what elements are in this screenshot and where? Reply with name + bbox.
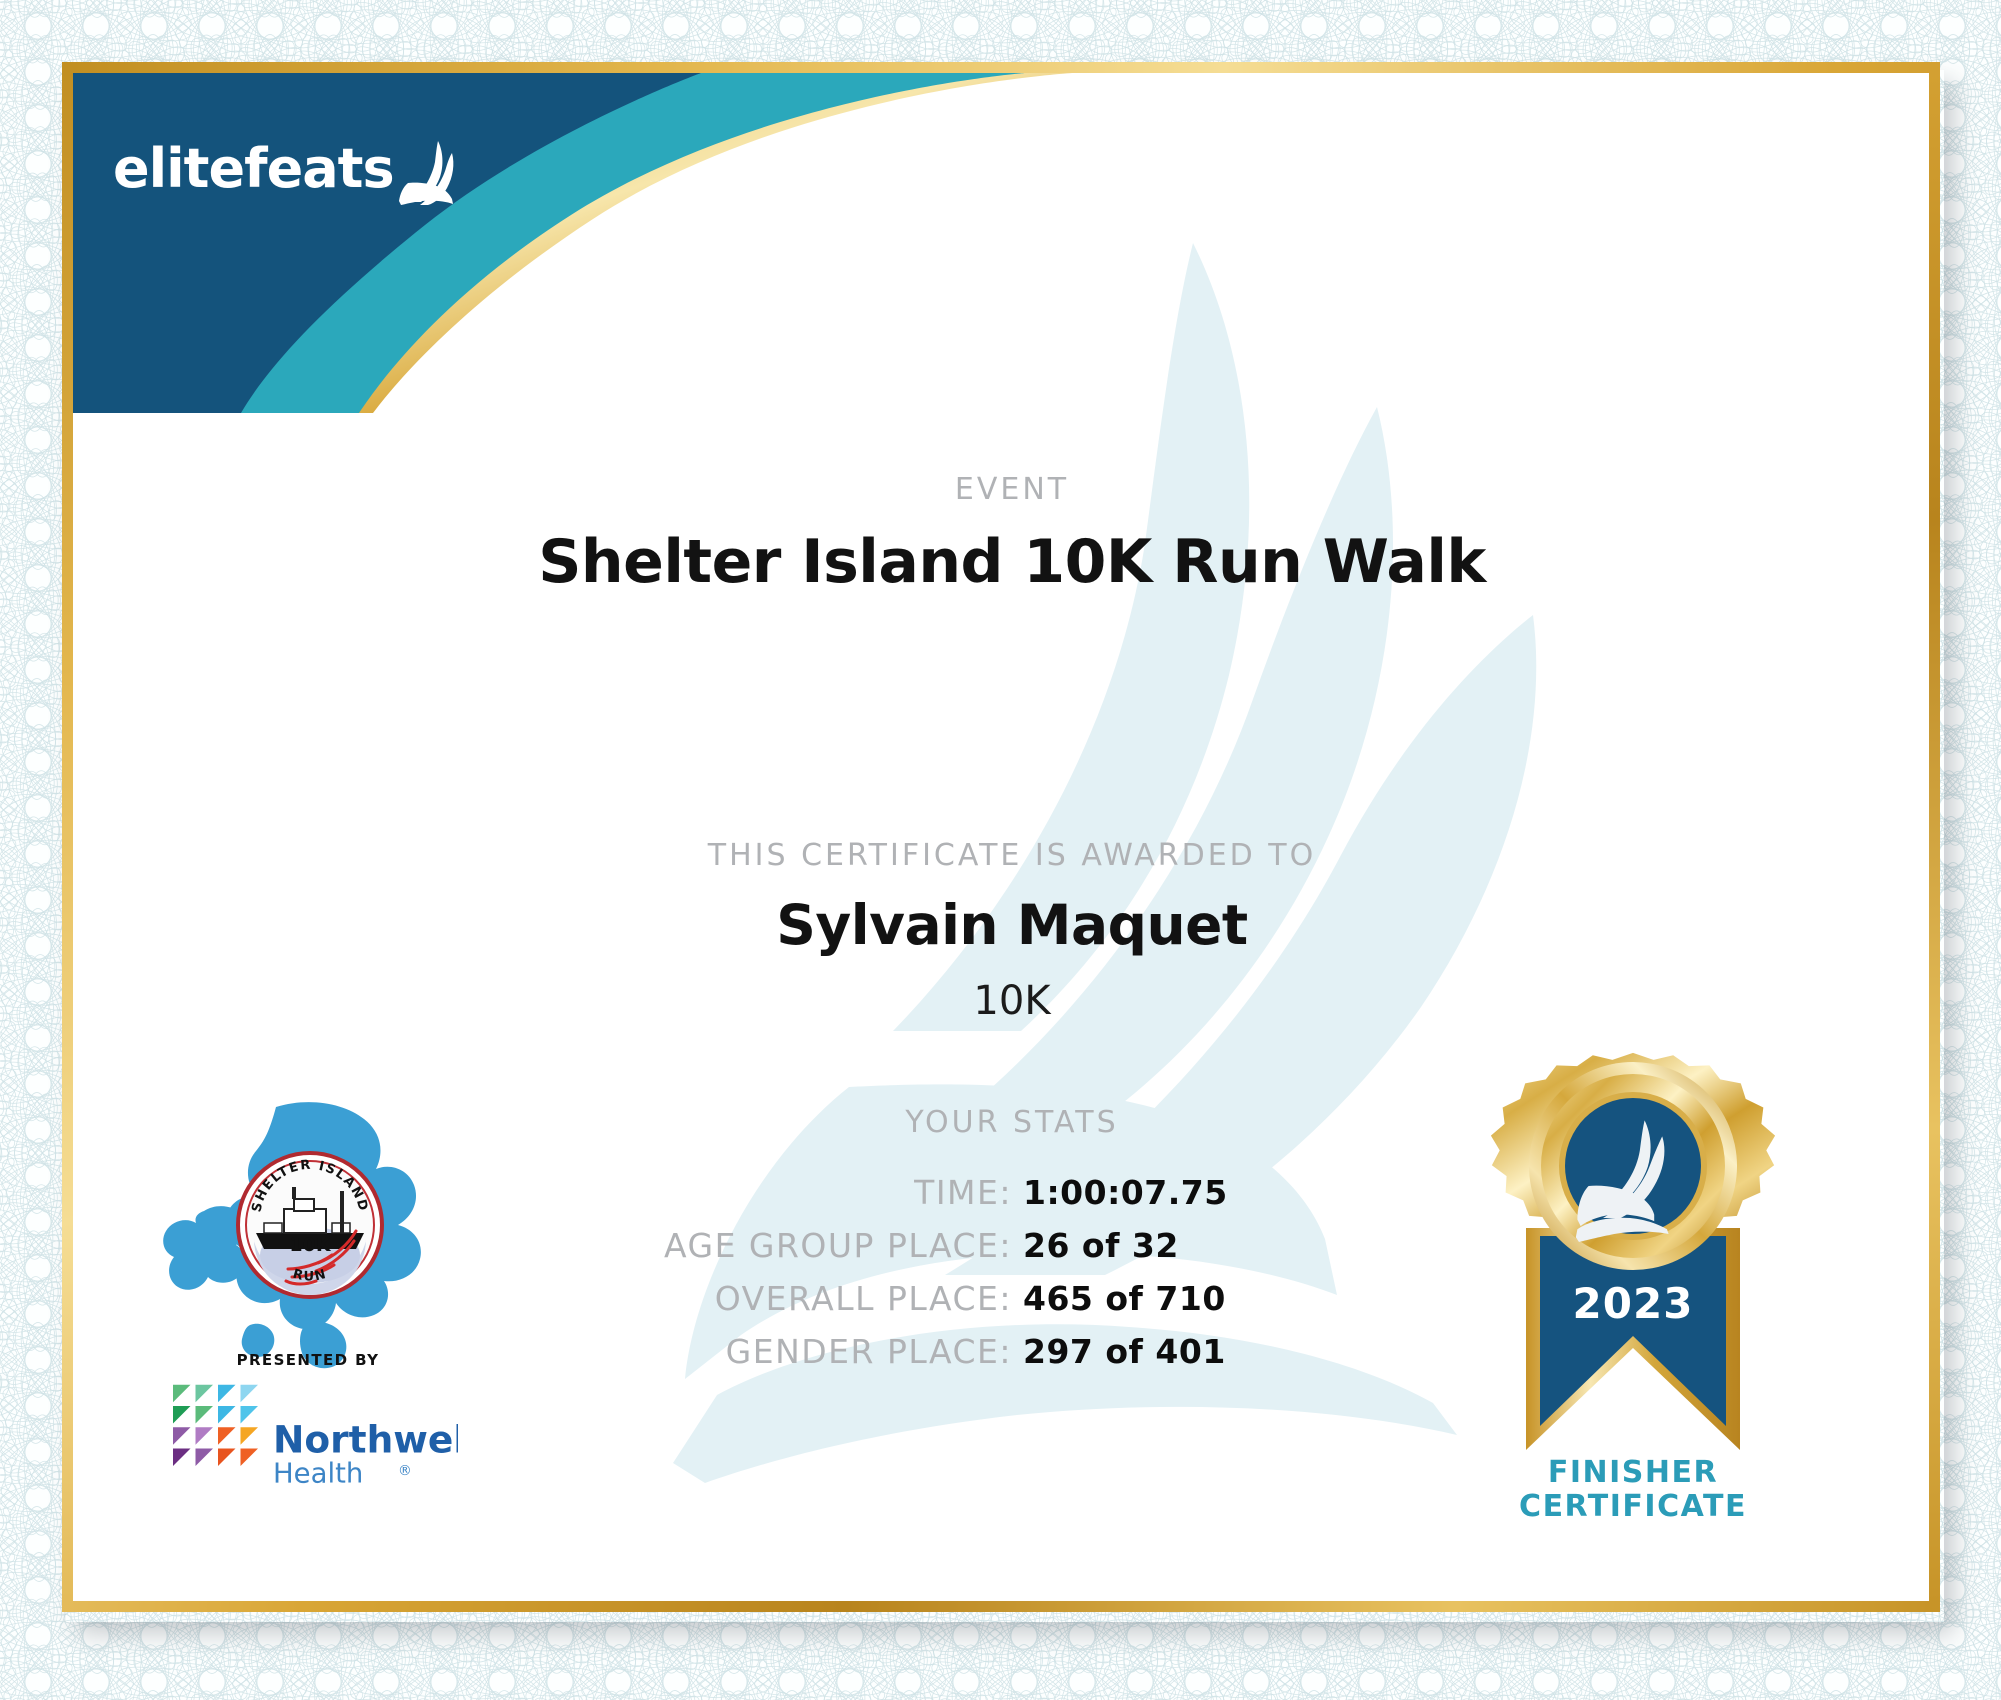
brand-wordmark: elitefeats bbox=[113, 142, 394, 196]
certificate-page: elitefeats EVENT Shelter Island 10K Run … bbox=[0, 0, 2001, 1700]
stat-key: TIME: bbox=[914, 1173, 1012, 1212]
finisher-caption-line2: CERTIFICATE bbox=[1423, 1490, 1843, 1524]
certificate-frame: elitefeats EVENT Shelter Island 10K Run … bbox=[62, 62, 1940, 1612]
badge-center-text: 10K bbox=[289, 1234, 331, 1256]
stat-key: GENDER PLACE: bbox=[726, 1332, 1012, 1371]
shelter-island-map-icon: 10K SHELTER ISLAND RUN bbox=[158, 1093, 458, 1383]
stat-key: OVERALL PLACE: bbox=[715, 1279, 1012, 1318]
stat-key: AGE GROUP PLACE: bbox=[664, 1226, 1012, 1265]
medal-year: 2023 bbox=[1573, 1279, 1694, 1328]
header-decoration bbox=[73, 73, 1073, 413]
finisher-caption-line1: FINISHER bbox=[1423, 1456, 1843, 1490]
awarded-label: THIS CERTIFICATE IS AWARDED TO bbox=[73, 838, 1929, 873]
finisher-caption: FINISHER CERTIFICATE bbox=[1423, 1456, 1843, 1524]
finisher-medal-icon: 2023 bbox=[1468, 998, 1798, 1488]
sponsor-sub: Health bbox=[273, 1457, 363, 1486]
event-label: EVENT bbox=[73, 472, 1929, 507]
recipient-name: Sylvain Maquet bbox=[73, 893, 1929, 957]
elitefeats-logo: elitefeats bbox=[113, 133, 460, 205]
stat-value: 26 of 32 bbox=[1023, 1226, 1179, 1265]
northwell-health-logo: Northwell Health ® bbox=[158, 1376, 458, 1486]
sponsor-name: Northwell bbox=[273, 1417, 458, 1461]
stat-value: 297 of 401 bbox=[1023, 1332, 1226, 1371]
sponsor-trademark: ® bbox=[398, 1463, 412, 1479]
presented-by-label: PRESENTED BY bbox=[158, 1351, 458, 1369]
stat-value: 465 of 710 bbox=[1023, 1279, 1226, 1318]
event-name: Shelter Island 10K Run Walk bbox=[73, 527, 1929, 597]
northwell-triangles-icon bbox=[173, 1385, 258, 1466]
stat-value: 1:00:07.75 bbox=[1023, 1173, 1228, 1212]
winged-foot-icon bbox=[398, 139, 460, 205]
